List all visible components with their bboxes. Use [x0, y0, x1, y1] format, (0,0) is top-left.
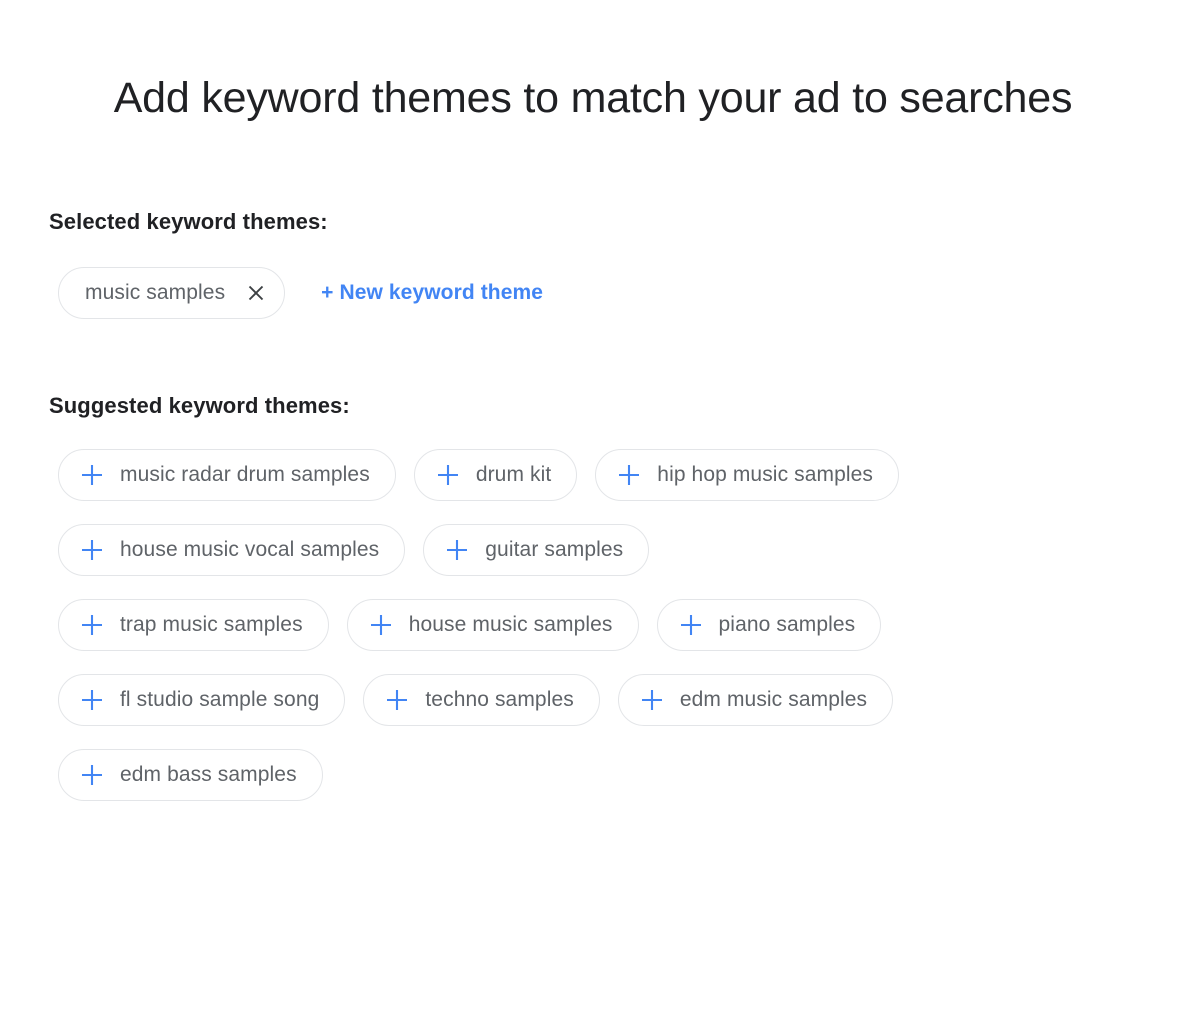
- suggested-chip-row: edm bass samples: [58, 749, 1138, 801]
- suggested-keyword-chip[interactable]: music radar drum samples: [58, 449, 396, 501]
- plus-icon: [444, 537, 470, 563]
- suggested-chip-row: trap music samples house music samples p…: [58, 599, 1138, 651]
- suggested-themes-list: music radar drum samples drum kit hip ho…: [58, 449, 1138, 801]
- plus-icon: [79, 687, 105, 713]
- suggested-keyword-chip[interactable]: drum kit: [414, 449, 577, 501]
- close-icon[interactable]: [246, 283, 266, 303]
- suggested-keyword-chip-label: house music vocal samples: [120, 538, 379, 562]
- suggested-chip-row: music radar drum samples drum kit hip ho…: [58, 449, 1138, 501]
- selected-themes-label: Selected keyword themes:: [49, 209, 1186, 235]
- suggested-keyword-chip[interactable]: hip hop music samples: [595, 449, 899, 501]
- suggested-themes-section: Suggested keyword themes:: [49, 393, 1186, 419]
- suggested-keyword-chip[interactable]: piano samples: [657, 599, 882, 651]
- keyword-themes-page: Add keyword themes to match your ad to s…: [0, 29, 1186, 1025]
- suggested-keyword-chip-label: music radar drum samples: [120, 463, 370, 487]
- plus-icon: [368, 612, 394, 638]
- selected-keyword-chip[interactable]: music samples: [58, 267, 285, 319]
- plus-icon: [678, 612, 704, 638]
- selected-themes-section: Selected keyword themes:: [49, 209, 1186, 235]
- suggested-keyword-chip[interactable]: guitar samples: [423, 524, 649, 576]
- plus-icon: [435, 462, 461, 488]
- plus-icon: [384, 687, 410, 713]
- suggested-keyword-chip[interactable]: techno samples: [363, 674, 599, 726]
- suggested-chip-row: fl studio sample song techno samples edm…: [58, 674, 1138, 726]
- plus-icon: [79, 612, 105, 638]
- page-title: Add keyword themes to match your ad to s…: [0, 29, 1186, 131]
- new-keyword-theme-link[interactable]: + New keyword theme: [321, 281, 543, 305]
- suggested-themes-label: Suggested keyword themes:: [49, 393, 1186, 419]
- suggested-keyword-chip-label: guitar samples: [485, 538, 623, 562]
- suggested-keyword-chip-label: techno samples: [425, 688, 573, 712]
- suggested-keyword-chip[interactable]: trap music samples: [58, 599, 329, 651]
- suggested-keyword-chip[interactable]: fl studio sample song: [58, 674, 345, 726]
- suggested-keyword-chip-label: hip hop music samples: [657, 463, 873, 487]
- plus-icon: [79, 762, 105, 788]
- plus-icon: [79, 537, 105, 563]
- suggested-keyword-chip[interactable]: edm bass samples: [58, 749, 323, 801]
- plus-icon: [616, 462, 642, 488]
- suggested-keyword-chip-label: piano samples: [719, 613, 856, 637]
- suggested-keyword-chip-label: fl studio sample song: [120, 688, 319, 712]
- suggested-keyword-chip[interactable]: house music samples: [347, 599, 639, 651]
- suggested-keyword-chip-label: edm bass samples: [120, 763, 297, 787]
- suggested-keyword-chip-label: house music samples: [409, 613, 613, 637]
- suggested-keyword-chip-label: edm music samples: [680, 688, 867, 712]
- suggested-chip-row: house music vocal samples guitar samples: [58, 524, 1138, 576]
- selected-themes-row: music samples + New keyword theme: [58, 267, 1186, 319]
- suggested-keyword-chip-label: trap music samples: [120, 613, 303, 637]
- suggested-keyword-chip[interactable]: edm music samples: [618, 674, 893, 726]
- suggested-keyword-chip[interactable]: house music vocal samples: [58, 524, 405, 576]
- plus-icon: [639, 687, 665, 713]
- suggested-keyword-chip-label: drum kit: [476, 463, 551, 487]
- selected-keyword-chip-label: music samples: [85, 281, 225, 305]
- plus-icon: [79, 462, 105, 488]
